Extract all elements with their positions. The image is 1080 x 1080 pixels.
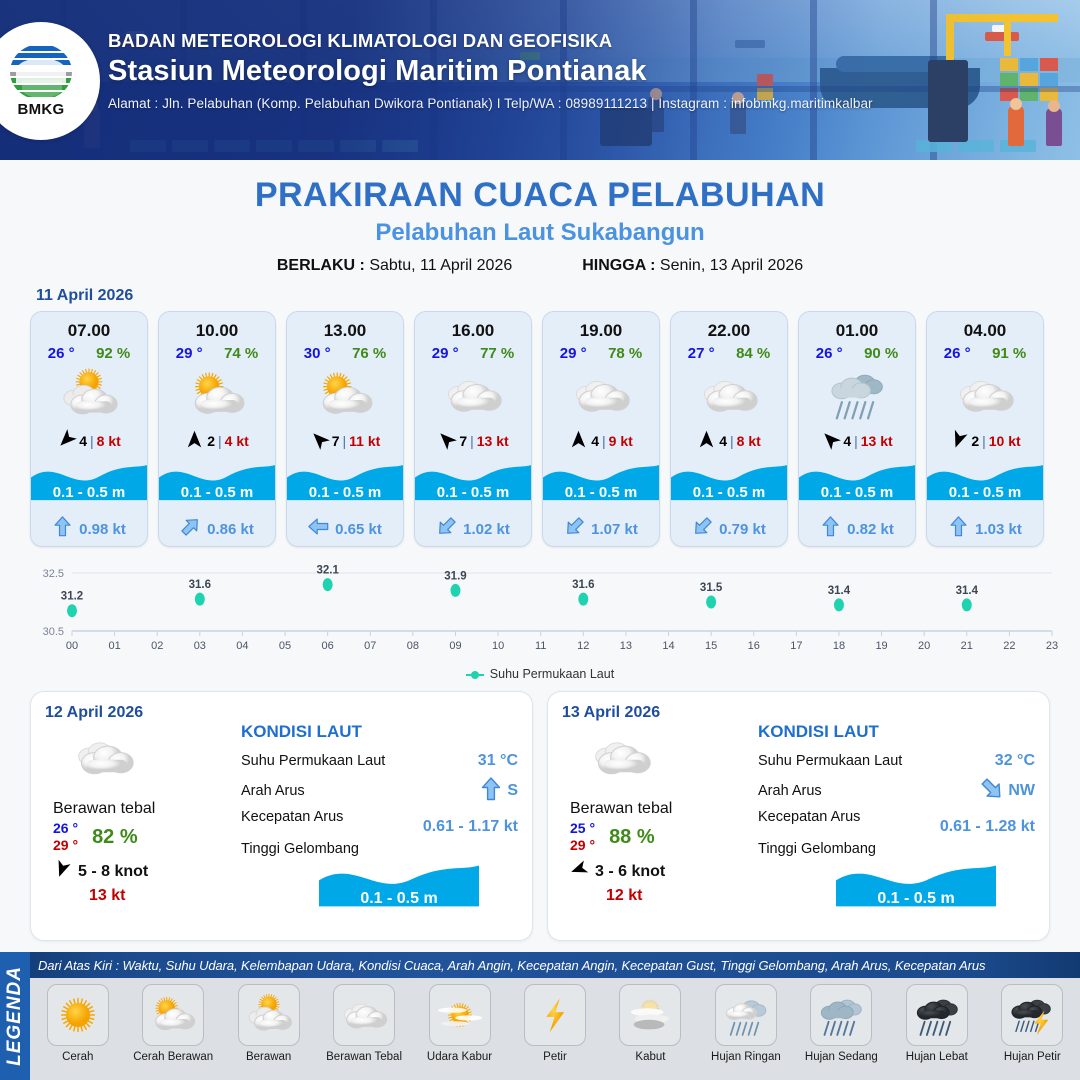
current-direction-arrow-icon (308, 516, 329, 542)
wind-direction-value: 4 (591, 433, 599, 449)
svg-text:20: 20 (918, 640, 930, 652)
wave-height-label: Tinggi Gelombang (241, 841, 359, 857)
forecast-card: 07.00 26 ° 92 % (30, 311, 148, 547)
legend-items-row: Cerah Cerah Ber (30, 978, 1080, 1080)
panel-temp-min: 26 ° (53, 820, 78, 837)
valid-from-value: Sabtu, 11 April 2026 (369, 257, 512, 274)
card-current: 0.86 kt (159, 512, 275, 546)
forecast-card: 16.00 29 ° 77 % (414, 311, 532, 547)
current-speed-label: Kecepatan Arus (758, 809, 860, 825)
card-humidity: 77 % (480, 345, 514, 362)
legend-item: Kabut (603, 984, 698, 1063)
svg-text:23: 23 (1046, 640, 1058, 652)
legend-item: Hujan Sedang (794, 984, 889, 1063)
wind-separator: | (602, 433, 606, 449)
card-current: 0.65 kt (287, 512, 403, 546)
panel-wave: 0.1 - 0.5 m (758, 858, 1035, 920)
card-wave: 0.1 - 0.5 m (287, 458, 403, 512)
svg-text:17: 17 (790, 640, 802, 652)
card-current: 1.02 kt (415, 512, 531, 546)
card-time: 04.00 (927, 312, 1043, 341)
legend-item: Cerah (30, 984, 125, 1063)
card-current: 0.79 kt (671, 512, 787, 546)
legend-item: Hujan Ringan (698, 984, 793, 1063)
cloud-icon (543, 364, 659, 426)
wind-speed-value: 9 kt (609, 433, 633, 449)
bmkg-logo-mark (10, 44, 72, 100)
card-wind: 4 | 13 kt (799, 426, 915, 456)
fog-icon (619, 984, 681, 1046)
svg-text:16: 16 (748, 640, 760, 652)
heavy-rain-icon (906, 984, 968, 1046)
svg-text:11: 11 (535, 640, 546, 652)
cloud-icon (415, 364, 531, 426)
light-rain-icon (715, 984, 777, 1046)
svg-text:21: 21 (961, 640, 973, 652)
panel-wind-range: 3 - 6 knot (595, 863, 665, 881)
sst-label: Suhu Permukaan Laut (241, 753, 385, 769)
current-speed-value: 1.02 kt (463, 521, 510, 538)
wind-separator: | (470, 433, 474, 449)
wind-direction-arrow-icon (310, 430, 329, 452)
svg-text:14: 14 (662, 640, 674, 652)
wave-height-value: 0.1 - 0.5 m (415, 484, 531, 501)
svg-text:01: 01 (108, 640, 120, 652)
svg-text:31.9: 31.9 (444, 570, 466, 582)
legend-item: Udara Kabur (412, 984, 507, 1063)
title-block: PRAKIRAAN CUACA PELABUHAN Pelabuhan Laut… (0, 176, 1080, 275)
wind-direction-arrow-icon (53, 860, 71, 883)
wave-height-value: 0.1 - 0.5 m (287, 484, 403, 501)
panel-temp-min: 25 ° (570, 820, 595, 837)
station-name: Stasiun Meteorologi Maritim Pontianak (108, 55, 873, 88)
panel-condition: Berawan tebal (562, 800, 752, 818)
svg-text:06: 06 (322, 640, 334, 652)
svg-text:00: 00 (66, 640, 78, 652)
card-wave: 0.1 - 0.5 m (927, 458, 1043, 512)
card-time: 13.00 (287, 312, 403, 341)
current-direction-arrow-icon (479, 777, 503, 805)
current-direction-value: S (507, 782, 518, 800)
card-current: 1.07 kt (543, 512, 659, 546)
sst-chart: 32.530.500010203040506070809101112131415… (28, 561, 1060, 661)
current-direction-arrow-icon (52, 516, 73, 542)
card-temperature: 30 ° (304, 345, 331, 362)
wind-direction-value: 4 (719, 433, 727, 449)
legend-bar: LEGENDA Dari Atas Kiri : Waktu, Suhu Uda… (0, 952, 1080, 1080)
card-wind: 4 | 8 kt (671, 426, 787, 456)
wind-direction-arrow-icon (821, 430, 840, 452)
forecast-card: 22.00 27 ° 84 % (670, 311, 788, 547)
wind-direction-value: 7 (332, 433, 340, 449)
card-time: 22.00 (671, 312, 787, 341)
legend-side-title: LEGENDA (0, 952, 30, 1080)
sst-label: Suhu Permukaan Laut (758, 753, 902, 769)
svg-text:30.5: 30.5 (43, 626, 64, 638)
wave-height-label: Tinggi Gelombang (758, 841, 876, 857)
wind-direction-value: 4 (79, 433, 87, 449)
card-time: 16.00 (415, 312, 531, 341)
wind-direction-arrow-icon (697, 430, 716, 452)
legend-item: Cerah Berawan (125, 984, 220, 1063)
wind-direction-arrow-icon (185, 430, 204, 452)
wind-direction-arrow-icon (570, 860, 588, 883)
cloud-icon (333, 984, 395, 1046)
panel-condition: Berawan tebal (45, 800, 235, 818)
card-humidity: 78 % (608, 345, 642, 362)
thunderstorm-icon (1001, 984, 1063, 1046)
card-time: 19.00 (543, 312, 659, 341)
valid-until-label: HINGGA : (582, 257, 655, 274)
forecast-card: 04.00 26 ° 91 % (926, 311, 1044, 547)
wind-direction-value: 2 (207, 433, 215, 449)
legend-item-label: Hujan Lebat (906, 1051, 968, 1063)
svg-text:19: 19 (875, 640, 887, 652)
svg-text:08: 08 (407, 640, 419, 652)
chart-legend-marker (466, 669, 484, 679)
card-humidity: 84 % (736, 345, 770, 362)
svg-text:13: 13 (620, 640, 632, 652)
panel-gust: 12 kt (562, 887, 752, 905)
card-wave: 0.1 - 0.5 m (415, 458, 531, 512)
card-wind: 4 | 9 kt (543, 426, 659, 456)
card-time: 10.00 (159, 312, 275, 341)
card-wave: 0.1 - 0.5 m (799, 458, 915, 512)
cloud-icon (671, 364, 787, 426)
panel-wave-value: 0.1 - 0.5 m (319, 890, 479, 908)
station-address: Alamat : Jln. Pelabuhan (Komp. Pelabuhan… (108, 96, 873, 111)
wind-speed-value: 13 kt (477, 433, 509, 449)
svg-text:32.1: 32.1 (316, 565, 339, 577)
wind-speed-value: 13 kt (861, 433, 893, 449)
wind-direction-arrow-icon (949, 430, 968, 452)
wind-direction-value: 2 (971, 433, 979, 449)
card-temperature: 26 ° (816, 345, 843, 362)
card-wind: 2 | 4 kt (159, 426, 275, 456)
sun-cloud-icon (142, 984, 204, 1046)
legend-item-label: Kabut (635, 1051, 665, 1063)
wave-height-value: 0.1 - 0.5 m (671, 484, 787, 501)
sun-cloud-icon (287, 364, 403, 426)
svg-text:31.6: 31.6 (572, 579, 594, 591)
card-temperature: 29 ° (560, 345, 587, 362)
legend-item: Berawan Tebal (316, 984, 411, 1063)
valid-until-value: Senin, 13 April 2026 (660, 257, 803, 274)
wind-speed-value: 11 kt (349, 433, 380, 449)
page-subtitle: Pelabuhan Laut Sukabangun (0, 219, 1080, 247)
legend-item-label: Cerah Berawan (133, 1051, 213, 1063)
wind-speed-value: 8 kt (737, 433, 761, 449)
daily-forecast-panels: 12 April 2026 (0, 681, 1080, 941)
sst-value: 31 °C (478, 752, 518, 770)
current-direction-arrow-icon (948, 516, 969, 542)
lightning-icon (524, 984, 586, 1046)
card-wind: 4 | 8 kt (31, 426, 147, 456)
current-speed-value: 1.03 kt (975, 521, 1022, 538)
panel-humidity: 88 % (609, 826, 655, 849)
forecast-day-label: 11 April 2026 (36, 287, 1080, 305)
wind-speed-value: 10 kt (989, 433, 1021, 449)
wave-height-value: 0.1 - 0.5 m (159, 484, 275, 501)
legend-item-label: Hujan Petir (1004, 1051, 1061, 1063)
legend-caption: Dari Atas Kiri : Waktu, Suhu Udara, Kele… (30, 952, 1080, 978)
current-speed-value: 0.98 kt (79, 521, 126, 538)
current-speed-value: 0.86 kt (207, 521, 254, 538)
panel-temp-max: 29 ° (570, 837, 595, 854)
svg-text:10: 10 (492, 640, 504, 652)
card-temperature: 26 ° (48, 345, 75, 362)
wave-height-value: 0.1 - 0.5 m (31, 484, 147, 501)
panel-temp-max: 29 ° (53, 837, 78, 854)
wind-direction-value: 7 (459, 433, 467, 449)
current-direction-arrow-icon (564, 516, 585, 542)
current-direction-arrow-icon (436, 516, 457, 542)
moderate-rain-icon (810, 984, 872, 1046)
current-direction-label: Arah Arus (758, 783, 822, 799)
wind-separator: | (90, 433, 94, 449)
legend-item-label: Cerah (62, 1051, 93, 1063)
valid-from: BERLAKU : Sabtu, 11 April 2026 (277, 257, 512, 275)
svg-text:12: 12 (577, 640, 589, 652)
current-direction-value: NW (1008, 782, 1035, 800)
sea-condition-title: KONDISI LAUT (758, 722, 1035, 742)
card-humidity: 90 % (864, 345, 898, 362)
wind-direction-arrow-icon (57, 430, 76, 452)
current-speed-label: Kecepatan Arus (241, 809, 343, 825)
haze-icon (429, 984, 491, 1046)
legend-item-label: Hujan Ringan (711, 1051, 781, 1063)
card-current: 1.03 kt (927, 512, 1043, 546)
card-humidity: 76 % (352, 345, 386, 362)
page-title: PRAKIRAAN CUACA PELABUHAN (0, 176, 1080, 215)
legend-item-label: Petir (543, 1051, 567, 1063)
legend-item-label: Berawan (246, 1051, 291, 1063)
wind-direction-arrow-icon (437, 430, 456, 452)
validity-row: BERLAKU : Sabtu, 11 April 2026 HINGGA : … (0, 257, 1080, 275)
svg-text:05: 05 (279, 640, 291, 652)
wind-separator: | (982, 433, 986, 449)
wave-height-value: 0.1 - 0.5 m (927, 484, 1043, 501)
wave-height-value: 0.1 - 0.5 m (543, 484, 659, 501)
card-current: 0.82 kt (799, 512, 915, 546)
sun-cloud-icon (159, 364, 275, 426)
forecast-card: 19.00 29 ° 78 % (542, 311, 660, 547)
forecast-card: 01.00 26 ° 90 % (798, 311, 916, 547)
legend-item-label: Berawan Tebal (326, 1051, 402, 1063)
panel-date: 13 April 2026 (562, 704, 1035, 722)
svg-text:03: 03 (194, 640, 206, 652)
daily-forecast-panel: 13 April 2026 (547, 691, 1050, 941)
legend-item-label: Udara Kabur (427, 1051, 492, 1063)
svg-text:31.4: 31.4 (828, 585, 851, 597)
svg-text:32.5: 32.5 (43, 568, 64, 580)
svg-text:31.5: 31.5 (700, 582, 723, 594)
current-speed-value: 0.79 kt (719, 521, 766, 538)
wind-speed-value: 8 kt (97, 433, 121, 449)
legend-item: Hujan Petir (985, 984, 1080, 1063)
bmkg-logo-text: BMKG (17, 101, 64, 118)
forecast-card: 13.00 30 ° 76 % (286, 311, 404, 547)
agency-name: BADAN METEOROLOGI KLIMATOLOGI DAN GEOFIS… (108, 30, 873, 52)
panel-humidity: 82 % (92, 826, 138, 849)
card-time: 01.00 (799, 312, 915, 341)
sst-chart-svg: 32.530.500010203040506070809101112131415… (28, 561, 1060, 661)
legend-side-text: LEGENDA (4, 966, 26, 1066)
cloud-icon (562, 724, 752, 790)
valid-until: HINGGA : Senin, 13 April 2026 (582, 257, 803, 275)
current-direction-label: Arah Arus (241, 783, 305, 799)
card-wind: 2 | 10 kt (927, 426, 1043, 456)
hourly-forecast-row: 07.00 26 ° 92 % (0, 311, 1080, 547)
wind-direction-arrow-icon (569, 430, 588, 452)
current-speed-value: 0.65 kt (335, 521, 382, 538)
legend-item: Berawan (221, 984, 316, 1063)
panel-wave: 0.1 - 0.5 m (241, 858, 518, 920)
card-wave: 0.1 - 0.5 m (159, 458, 275, 512)
sst-value: 32 °C (995, 752, 1035, 770)
page-header: BMKG BADAN METEOROLOGI KLIMATOLOGI DAN G… (0, 0, 1080, 160)
card-humidity: 92 % (96, 345, 130, 362)
panel-gust: 13 kt (45, 887, 235, 905)
sun-behind-cloud-icon (238, 984, 300, 1046)
current-direction-arrow-icon (180, 516, 201, 542)
card-time: 07.00 (31, 312, 147, 341)
current-speed-value: 0.82 kt (847, 521, 894, 538)
forecast-card: 10.00 29 ° 74 % (158, 311, 276, 547)
card-temperature: 29 ° (432, 345, 459, 362)
wind-direction-value: 4 (843, 433, 851, 449)
current-direction-arrow-icon (980, 777, 1004, 805)
legend-item: Petir (507, 984, 602, 1063)
wind-separator: | (854, 433, 858, 449)
card-temperature: 27 ° (688, 345, 715, 362)
svg-text:18: 18 (833, 640, 845, 652)
card-temperature: 26 ° (944, 345, 971, 362)
wind-separator: | (730, 433, 734, 449)
card-humidity: 74 % (224, 345, 258, 362)
chart-legend: Suhu Permukaan Laut (0, 667, 1080, 681)
daily-forecast-panel: 12 April 2026 (30, 691, 533, 941)
panel-wave-value: 0.1 - 0.5 m (836, 890, 996, 908)
cloud-icon (45, 724, 235, 790)
card-current: 0.98 kt (31, 512, 147, 546)
card-wave: 0.1 - 0.5 m (671, 458, 787, 512)
current-direction-arrow-icon (820, 516, 841, 542)
chart-legend-label: Suhu Permukaan Laut (490, 667, 614, 681)
current-direction-arrow-icon (692, 516, 713, 542)
wind-separator: | (218, 433, 222, 449)
svg-text:31.4: 31.4 (956, 585, 979, 597)
sun-behind-cloud-icon (31, 364, 147, 426)
card-wind: 7 | 13 kt (415, 426, 531, 456)
panel-wind-range: 5 - 8 knot (78, 863, 148, 881)
cloud-icon (927, 364, 1043, 426)
svg-text:15: 15 (705, 640, 717, 652)
current-speed-value: 1.07 kt (591, 521, 638, 538)
svg-text:04: 04 (236, 640, 248, 652)
svg-text:02: 02 (151, 640, 163, 652)
wind-speed-value: 4 kt (225, 433, 249, 449)
svg-text:31.2: 31.2 (61, 591, 83, 603)
card-humidity: 91 % (992, 345, 1026, 362)
card-wave: 0.1 - 0.5 m (31, 458, 147, 512)
wave-height-value: 0.1 - 0.5 m (799, 484, 915, 501)
svg-text:22: 22 (1003, 640, 1015, 652)
panel-date: 12 April 2026 (45, 704, 518, 722)
wind-separator: | (343, 433, 347, 449)
sun-icon (47, 984, 109, 1046)
card-temperature: 29 ° (176, 345, 203, 362)
valid-from-label: BERLAKU : (277, 257, 365, 274)
rain-cloud-icon (799, 364, 915, 426)
legend-item-label: Hujan Sedang (805, 1051, 878, 1063)
card-wind: 7 | 11 kt (287, 426, 403, 456)
legend-item: Hujan Lebat (889, 984, 984, 1063)
svg-text:07: 07 (364, 640, 376, 652)
svg-text:09: 09 (449, 640, 461, 652)
card-wave: 0.1 - 0.5 m (543, 458, 659, 512)
svg-text:31.6: 31.6 (189, 579, 211, 591)
sea-condition-title: KONDISI LAUT (241, 722, 518, 742)
